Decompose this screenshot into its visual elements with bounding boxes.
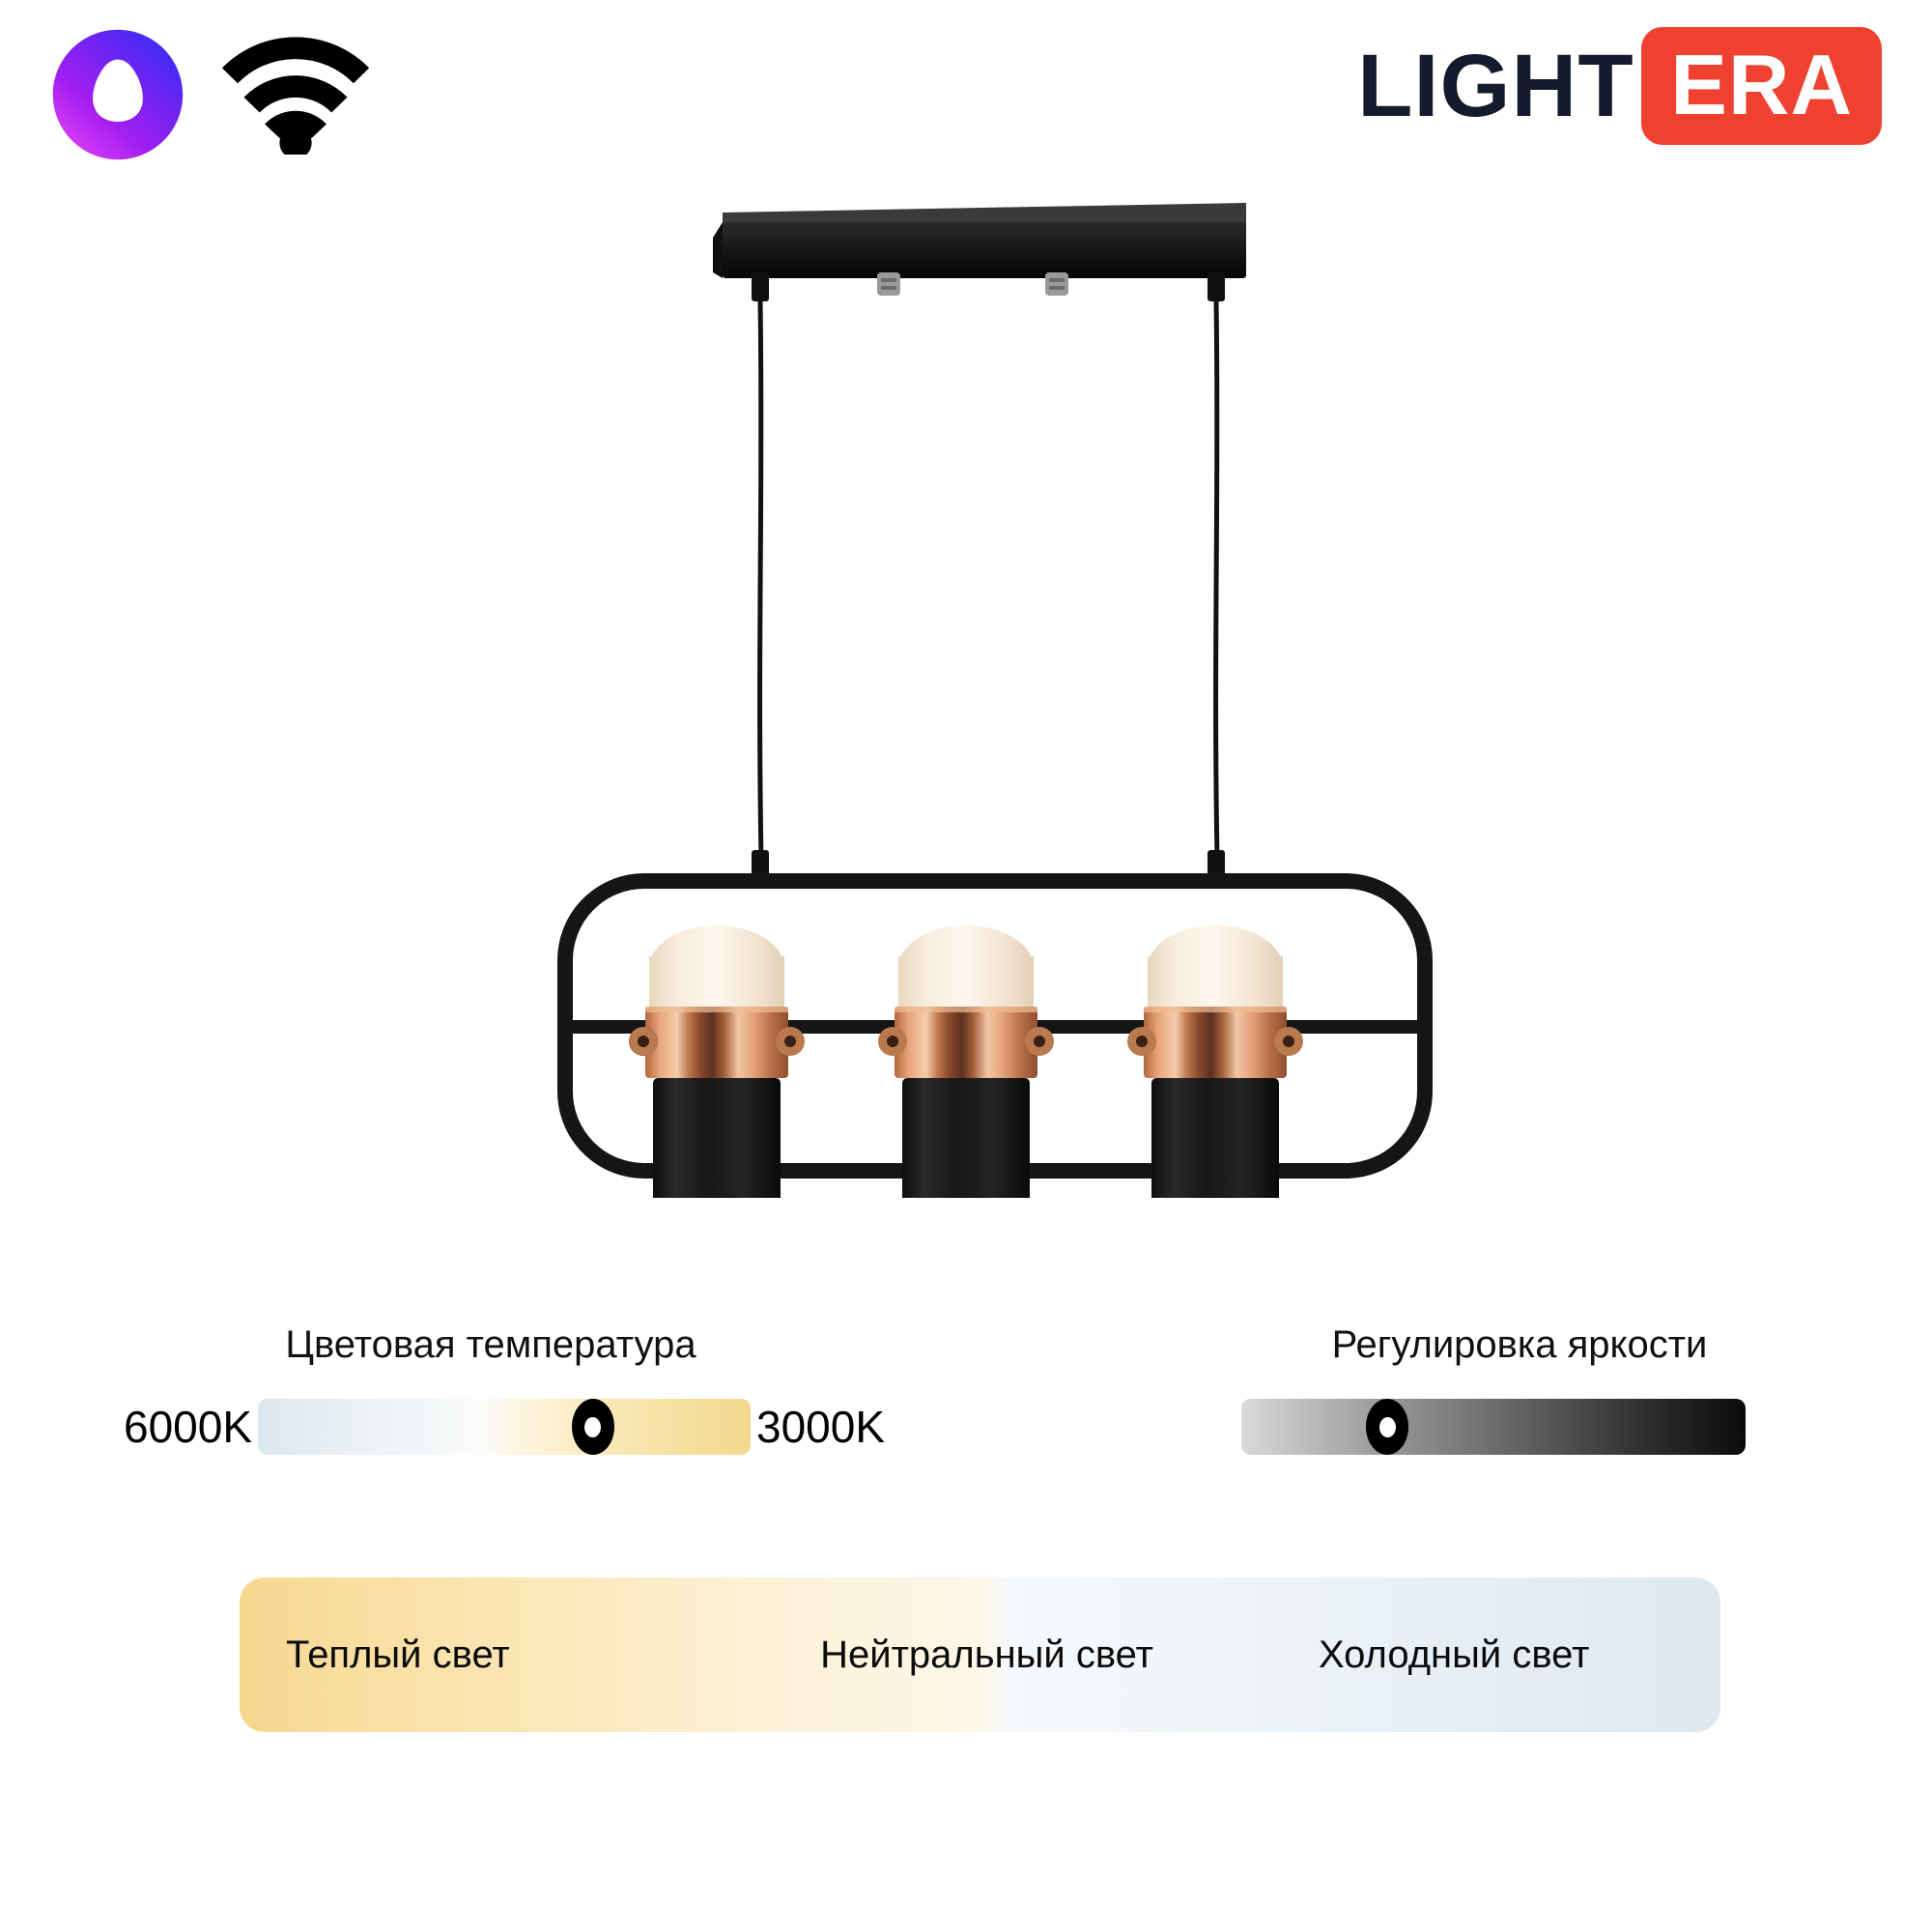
- brightness-slider-knob[interactable]: [1366, 1399, 1408, 1455]
- color-temperature-control: Цветовая температура 6000K 3000K: [124, 1323, 858, 1455]
- brand-logo-light: LIGHT: [1357, 42, 1644, 130]
- brand-logo-era: ERA: [1641, 27, 1882, 145]
- brightness-slider-track[interactable]: [1241, 1399, 1746, 1455]
- alice-assistant-icon: [50, 27, 185, 162]
- color-temperature-slider-knob[interactable]: [572, 1399, 614, 1455]
- mode-cool-light[interactable]: Холодный свет: [1220, 1577, 1720, 1732]
- lamp-head-2: [878, 925, 1054, 1198]
- mode-warm-light[interactable]: Теплый свет: [240, 1577, 753, 1732]
- lamp-head-1: [629, 925, 805, 1198]
- light-mode-bar: Теплый свет Нейтральный свет Холодный св…: [240, 1577, 1720, 1732]
- product-page: LIGHT ERA: [0, 0, 1932, 1932]
- header-badges: [50, 27, 369, 162]
- temperature-min-label: 6000K: [124, 1405, 252, 1449]
- suspension-cables: [760, 301, 1217, 860]
- lamp-head-3: [1127, 925, 1303, 1198]
- mode-neutral-light[interactable]: Нейтральный свет: [753, 1577, 1221, 1732]
- color-temperature-slider-track[interactable]: [258, 1399, 751, 1455]
- brand-logo: LIGHT ERA: [1360, 27, 1882, 145]
- controls-row: Цветовая температура 6000K 3000K Регулир…: [0, 1323, 1932, 1517]
- color-temperature-title: Цветовая температура: [124, 1323, 858, 1366]
- brightness-control: Регулировка яркости: [1241, 1323, 1821, 1455]
- wifi-icon: [222, 35, 369, 155]
- ceiling-canopy: [713, 203, 1246, 301]
- temperature-max-label: 3000K: [756, 1405, 885, 1449]
- brightness-title: Регулировка яркости: [1218, 1323, 1821, 1366]
- product-image: [0, 184, 1932, 1198]
